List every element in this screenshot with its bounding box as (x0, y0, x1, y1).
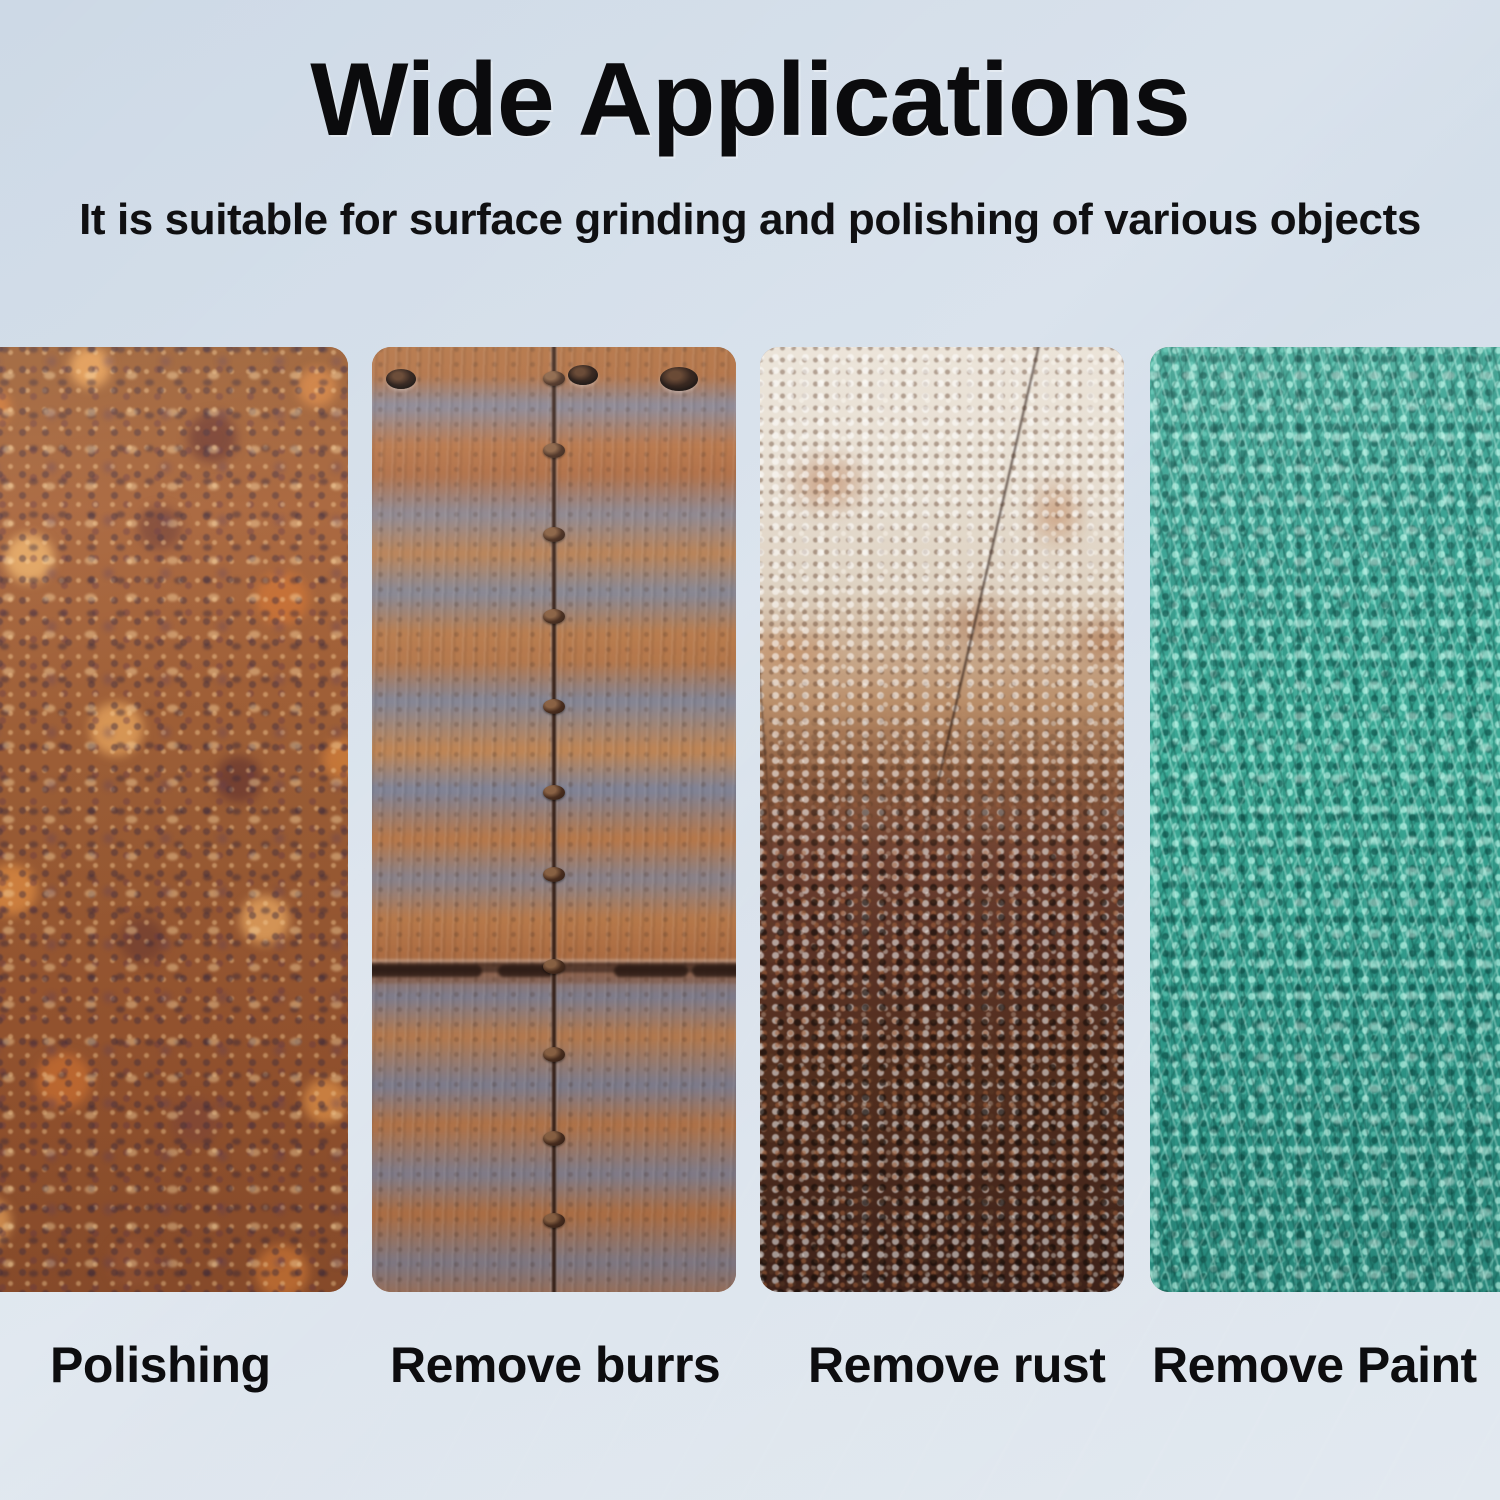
rivet (543, 699, 565, 714)
rivet (543, 443, 565, 458)
vertical-rivet-seam (551, 347, 558, 1292)
application-image-remove-paint (1150, 347, 1500, 1292)
rivet (543, 1047, 565, 1062)
rivet (543, 1131, 565, 1146)
rust-texture-polishing (0, 347, 348, 1292)
rivet (543, 1213, 565, 1228)
caption-remove-burrs: Remove burrs (390, 1336, 720, 1394)
application-panel-strip (0, 347, 1500, 1292)
caption-polishing: Polishing (50, 1336, 271, 1394)
application-image-remove-rust (760, 347, 1124, 1292)
rivet (543, 527, 565, 542)
plaster-rust-texture (760, 347, 1124, 1292)
rivet (543, 609, 565, 624)
caption-remove-paint: Remove Paint (1152, 1336, 1477, 1394)
bolt-hole (386, 369, 416, 389)
application-image-polishing (0, 347, 348, 1292)
rivet (543, 785, 565, 800)
peeling-paint-texture (1150, 347, 1500, 1292)
bolt-hole (568, 365, 598, 385)
caption-remove-rust: Remove rust (808, 1336, 1105, 1394)
panel-captions: Polishing Remove burrs Remove rust Remov… (0, 1336, 1500, 1406)
bolt-hole (660, 367, 698, 391)
rivet (543, 371, 565, 386)
page-subtitle: It is suitable for surface grinding and … (0, 196, 1500, 244)
application-image-remove-burrs (372, 347, 736, 1292)
rivet (543, 959, 565, 974)
rivet (543, 867, 565, 882)
page-title: Wide Applications (0, 44, 1500, 156)
